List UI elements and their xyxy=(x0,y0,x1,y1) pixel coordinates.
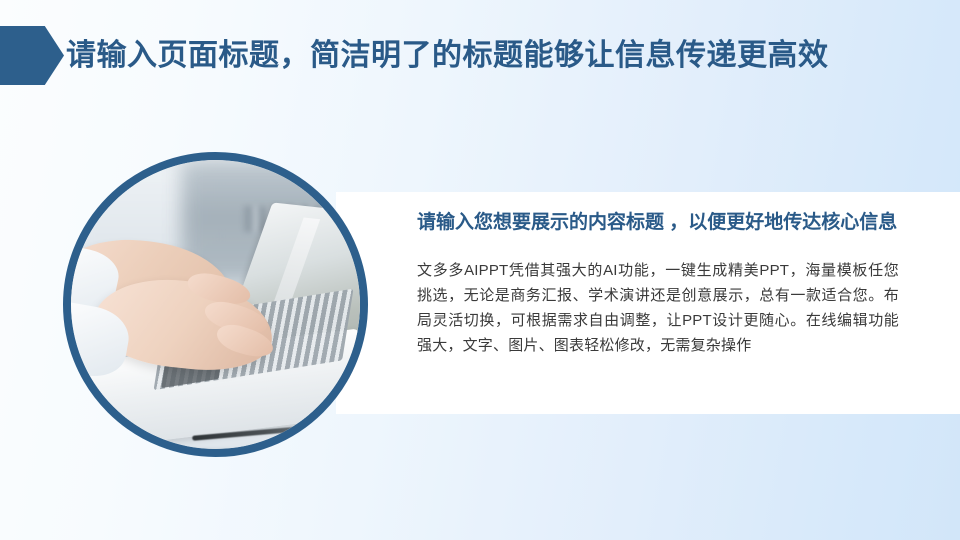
arrow-right-icon xyxy=(0,26,64,85)
content-heading: 请输入您想要展示的内容标题 ，以便更好地传达核心信息 xyxy=(417,213,905,232)
photo-circle-frame xyxy=(63,152,368,457)
laptop-typing-photo xyxy=(71,160,360,449)
title-band: 请输入页面标题，简洁明了的标题能够让信息传递更高效 xyxy=(0,0,960,108)
page-title: 请输入页面标题，简洁明了的标题能够让信息传递更高效 xyxy=(66,30,946,82)
slide-canvas: 请输入页面标题，简洁明了的标题能够让信息传递更高效 请输入您想要展示的内容标 xyxy=(0,0,960,540)
content-body-text: 文多多AIPPT凭借其强大的AI功能，一键生成精美PPT，海量模板任您挑选，无论… xyxy=(417,258,899,358)
